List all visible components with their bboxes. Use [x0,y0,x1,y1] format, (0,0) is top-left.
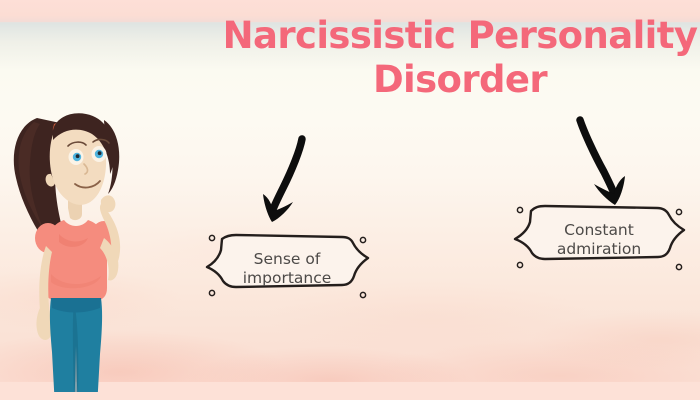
label-box-constant-admiration[interactable]: Constant admiration [503,203,695,277]
screw-dot [209,235,214,240]
arrow-to-constant-admiration-icon [572,114,632,210]
woman-thinking-illustration [4,96,134,392]
slide-frame: Narcissistic Personality Disorder [0,0,700,400]
slide-title: Narcissistic Personality Disorder [150,14,700,102]
screw-dot [360,237,365,242]
screw-dot [209,290,214,295]
screw-dot [360,292,365,297]
screw-dot [676,209,681,214]
label-box-sense-of-importance[interactable]: Sense of importance [196,232,378,306]
screw-dot [676,264,681,269]
screw-dot [517,262,522,267]
arrow-to-sense-of-importance-icon [258,134,318,230]
screw-dot [517,207,522,212]
